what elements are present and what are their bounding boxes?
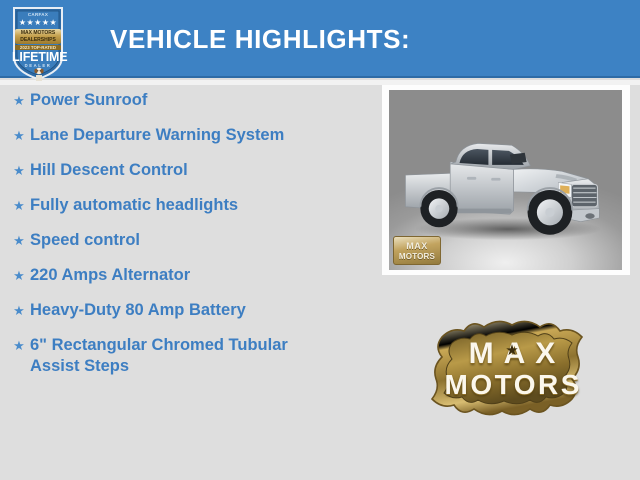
watermark-line-2: MOTORS [394,253,440,261]
star-bullet-icon: ★ [8,335,30,356]
star-bullet-icon: ★ [8,195,30,216]
star-bullet-icon: ★ [8,125,30,146]
list-item: ★ Lane Departure Warning System [8,125,338,146]
star-bullet-icon: ★ [8,265,30,286]
list-item: ★ Power Sunroof [8,90,338,111]
star-icon: ★ [505,341,518,359]
badge-carfax-word: CARFAX [12,13,64,18]
list-item-label: Lane Departure Warning System [30,125,338,146]
logo-line-motors: MOTORS [428,369,596,401]
star-bullet-icon: ★ [8,160,30,181]
list-item-label: Power Sunroof [30,90,338,111]
mascot-icon [33,67,45,81]
list-item-label: Hill Descent Control [30,160,338,181]
star-bullet-icon: ★ [8,300,30,321]
max-motors-logo: MAX ★ MOTORS [428,315,596,423]
list-item: ★ Heavy-Duty 80 Amp Battery [8,300,338,321]
list-item-label: 220 Amps Alternator [30,265,338,286]
list-item: ★ 220 Amps Alternator [8,265,338,286]
list-item-label: Fully automatic headlights [30,195,338,216]
watermark-line-1: MAX [394,242,440,251]
star-bullet-icon: ★ [8,230,30,251]
carfax-lifetime-dealer-badge: CARFAX ★★★★★ MAX MOTORS DEALERSHIPS 2023… [12,5,64,81]
star-bullet-icon: ★ [8,90,30,111]
list-item: ★ Fully automatic headlights [8,195,338,216]
page-title: VEHICLE HIGHLIGHTS: [110,24,410,55]
vehicle-highlights-list: ★ Power Sunroof ★ Lane Departure Warning… [8,90,338,391]
vehicle-photo-frame[interactable]: MAX MOTORS [382,85,630,275]
list-item-label: 6" Rectangular Chromed Tubular Assist St… [30,335,338,377]
list-item: ★ 6" Rectangular Chromed Tubular Assist … [8,335,338,377]
list-item-label: Speed control [30,230,338,251]
list-item: ★ Hill Descent Control [8,160,338,181]
list-item-label: Heavy-Duty 80 Amp Battery [30,300,338,321]
list-item: ★ Speed control [8,230,338,251]
photo-watermark: MAX MOTORS [393,236,441,265]
badge-lifetime-label: LIFETIME [12,51,64,64]
vehicle-photo[interactable]: MAX MOTORS [389,90,622,270]
slide-canvas: VEHICLE HIGHLIGHTS: CARFAX ★★★★★ MAX MOT… [0,0,640,480]
pickup-truck-image [398,115,612,248]
badge-stars: ★★★★★ [12,19,64,27]
badge-dealer-name: MAX MOTORS DEALERSHIPS [15,30,61,43]
